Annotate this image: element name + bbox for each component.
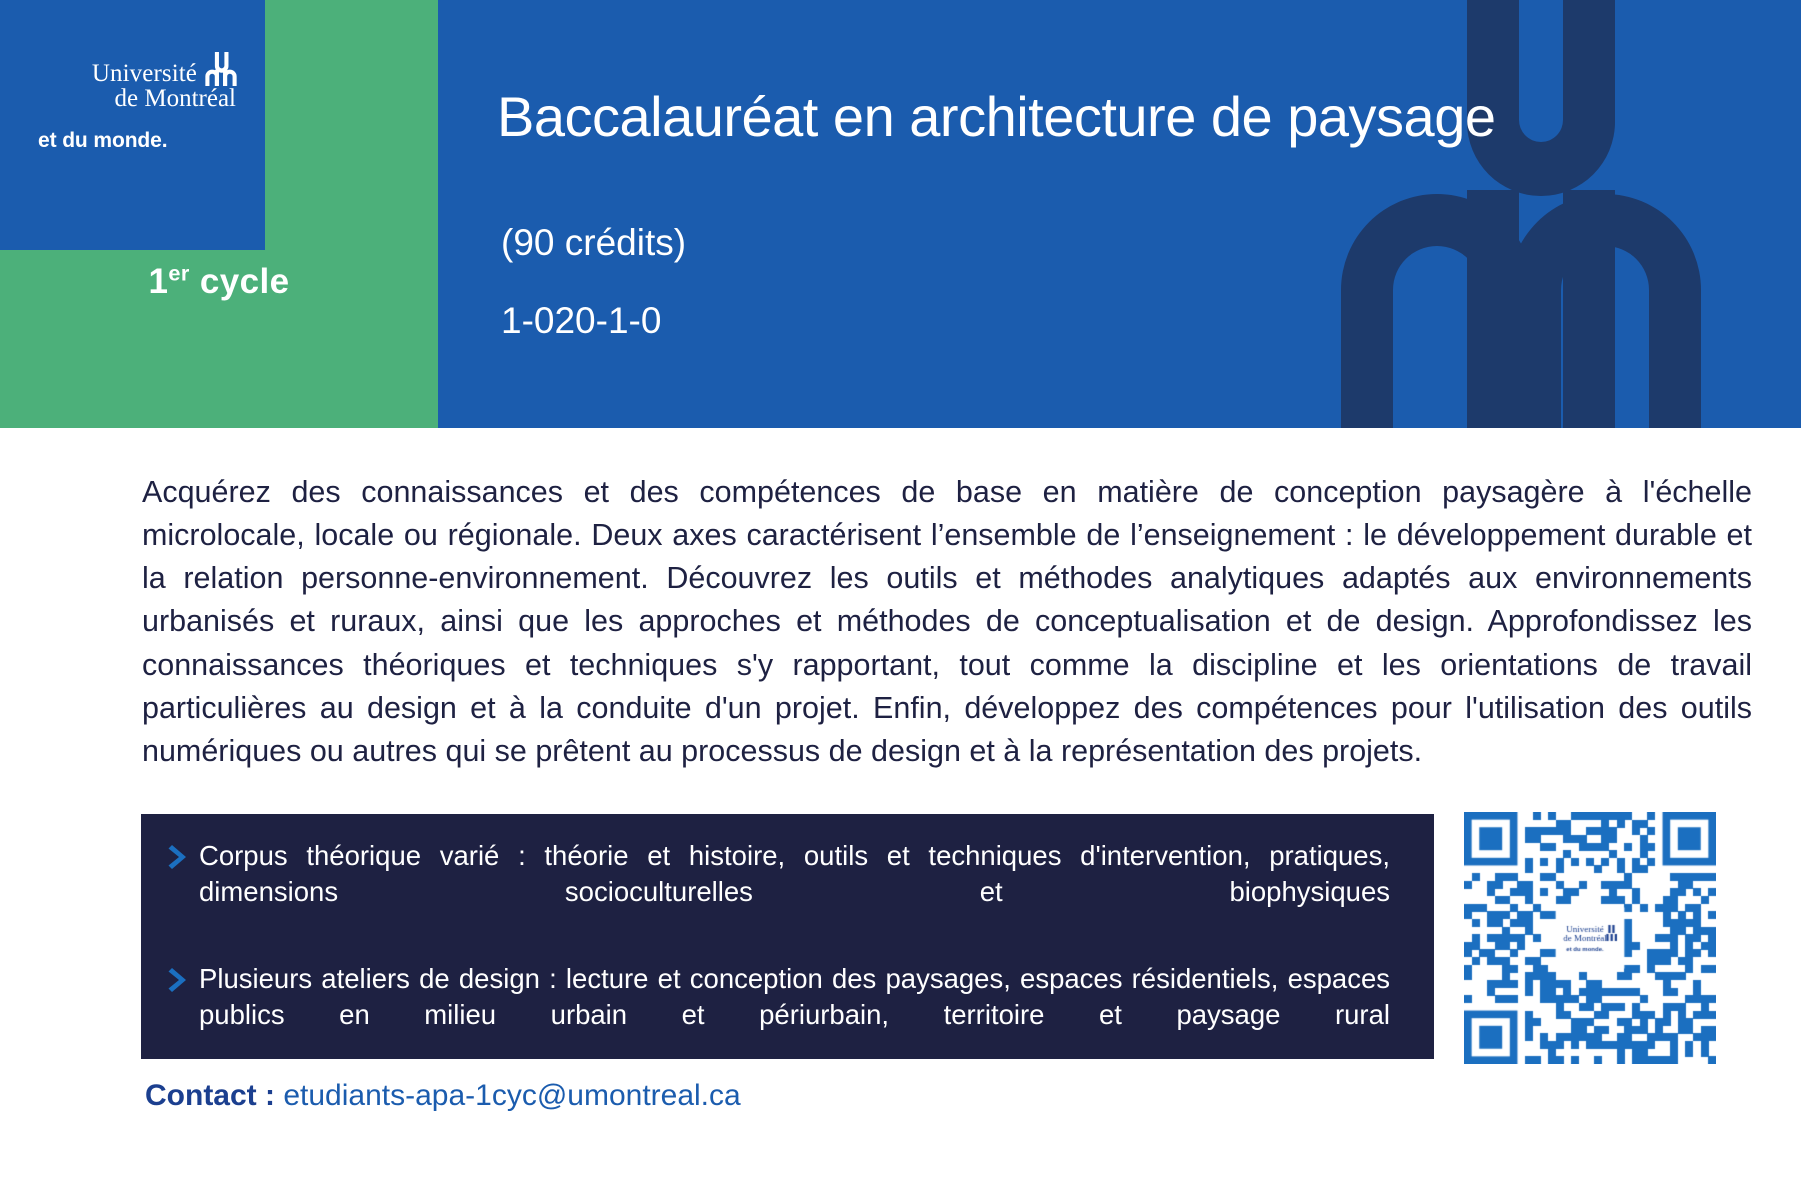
credits-label: (90 crédits): [501, 224, 686, 261]
highlight-text: Plusieurs ateliers de design : lecture e…: [199, 961, 1390, 1068]
contact-line: Contact : etudiants-apa-1cyc@umontreal.c…: [145, 1078, 741, 1114]
program-fact-sheet: Université de Montréal et du monde. 1er …: [0, 0, 1801, 1200]
contact-label: Contact :: [145, 1079, 275, 1112]
contact-email[interactable]: etudiants-apa-1cyc@umontreal.ca: [283, 1079, 740, 1112]
list-item: Corpus théorique varié : théorie et hist…: [167, 838, 1390, 945]
udem-watermark-icon: [1281, 0, 1761, 428]
list-item: Plusieurs ateliers de design : lecture e…: [167, 961, 1390, 1068]
program-description: Acquérez des connaissances et des compét…: [142, 471, 1752, 774]
page-title: Baccalauréat en architecture de paysage: [497, 86, 1757, 148]
qr-code[interactable]: [1464, 812, 1716, 1064]
logo-line1: Université: [92, 61, 197, 87]
logo-line2: de Montréal: [38, 85, 238, 113]
cycle-word: cycle: [200, 262, 290, 301]
cycle-number: 1: [149, 262, 169, 301]
highlights-box: Corpus théorique varié : théorie et hist…: [141, 814, 1434, 1059]
qr-code-canvas[interactable]: [1464, 812, 1716, 1064]
udem-logo: Université de Montréal et du monde.: [38, 52, 238, 153]
highlight-text: Corpus théorique varié : théorie et hist…: [199, 838, 1390, 945]
cycle-badge: 1er cycle: [0, 262, 438, 302]
udem-m-mark-icon: [204, 52, 238, 86]
chevron-right-icon: [167, 965, 193, 995]
cycle-ordinal-suffix: er: [168, 260, 189, 285]
chevron-right-icon: [167, 842, 193, 872]
program-code: 1-020-1-0: [501, 302, 661, 339]
page-header: Université de Montréal et du monde. 1er …: [0, 0, 1801, 428]
logo-tagline: et du monde.: [38, 129, 238, 153]
